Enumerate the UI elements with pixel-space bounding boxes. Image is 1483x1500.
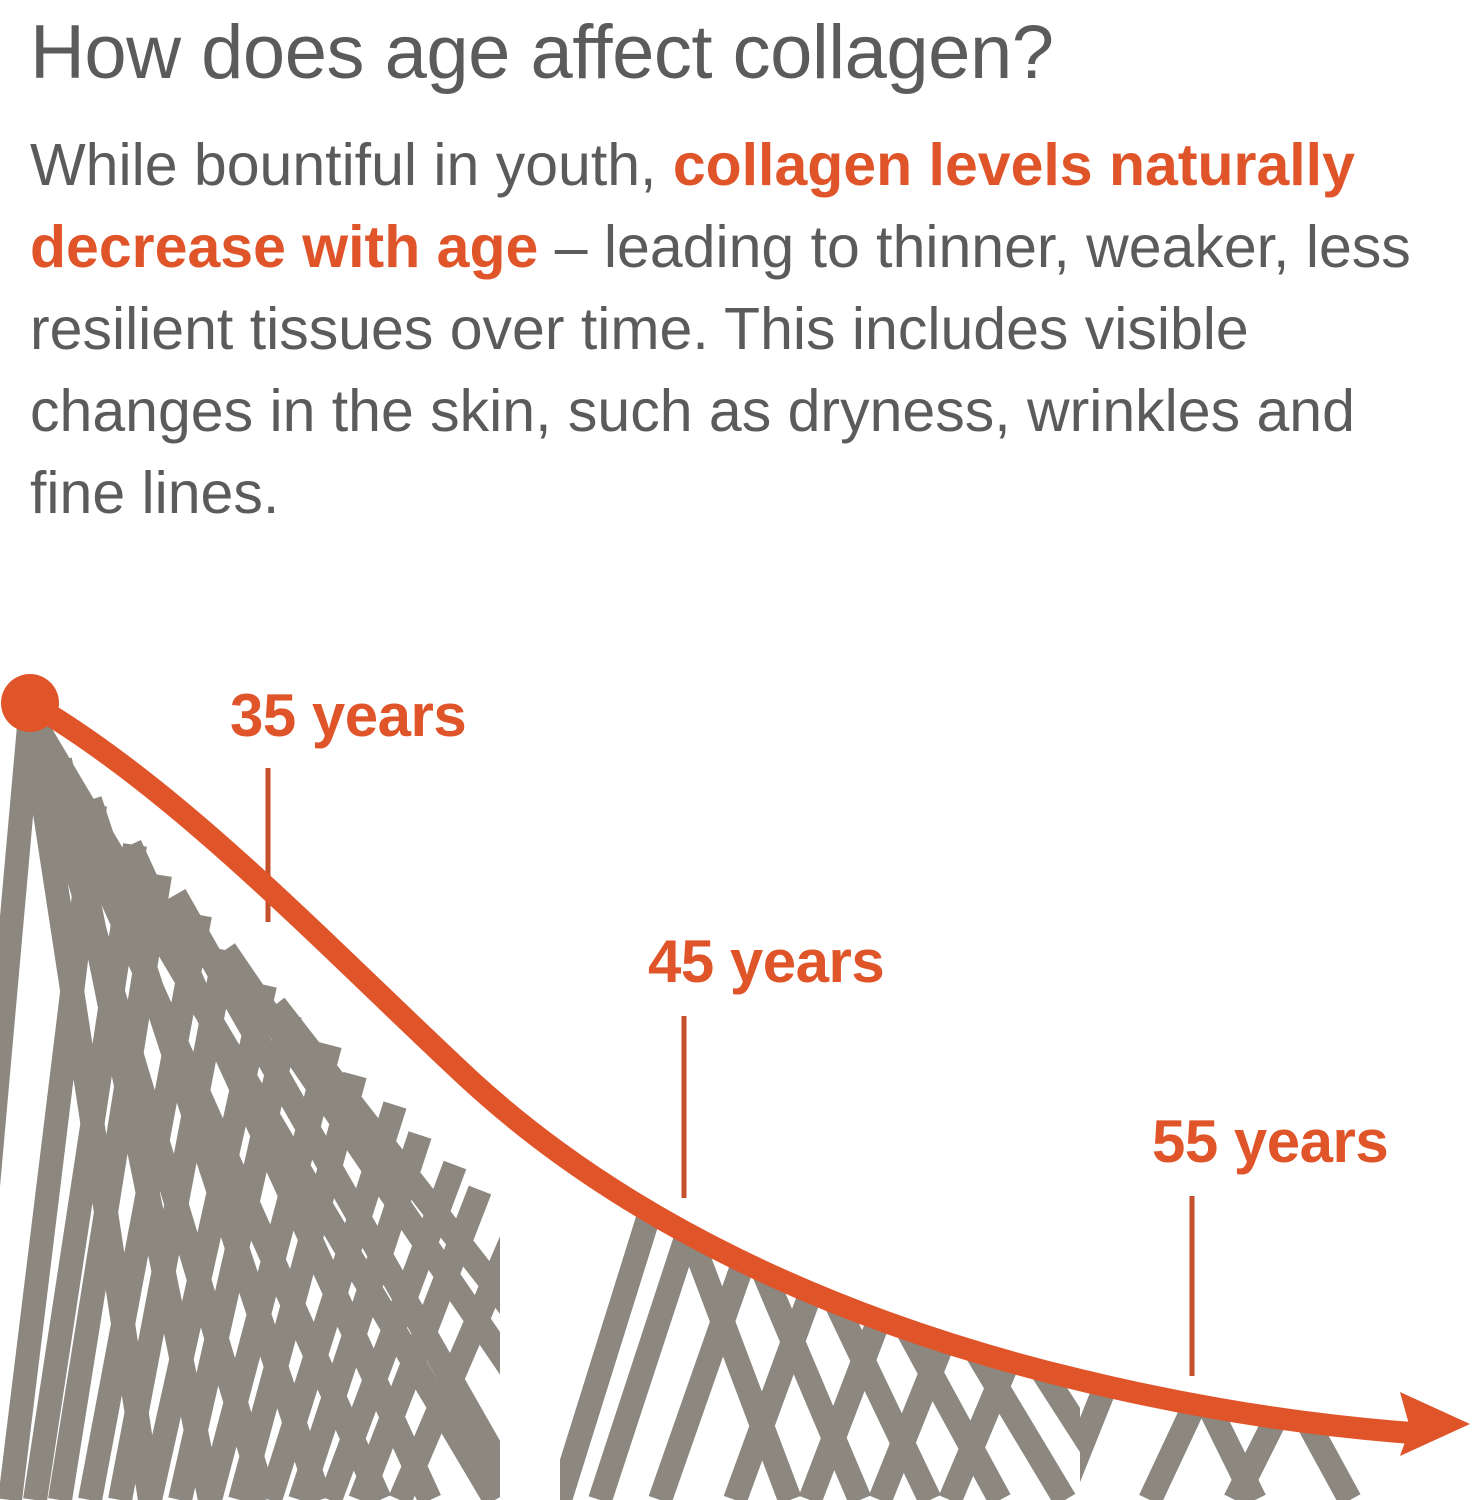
mesh-field-sparse-right (1060, 1350, 1350, 1500)
body-paragraph: While bountiful in youth, collagen level… (30, 100, 1430, 534)
annotation-label-45-years: 45 years (648, 932, 884, 992)
mesh-field-mid (560, 1180, 1125, 1500)
annotation-label-55-years: 55 years (1152, 1112, 1388, 1172)
arrow-right-icon (1400, 1392, 1470, 1456)
page-title: How does age affect collagen? (30, 0, 1430, 100)
start-dot-icon (1, 674, 59, 732)
text-block: How does age affect collagen? While boun… (30, 0, 1430, 534)
collagen-fibre-mesh (0, 715, 1350, 1500)
collagen-decline-curve (30, 703, 1425, 1434)
mesh-field-dense-left (0, 715, 660, 1500)
infographic-page: How does age affect collagen? While boun… (0, 0, 1483, 1500)
annotation-leader-lines (268, 768, 1192, 1376)
body-lead-text: While bountiful in youth, (30, 132, 673, 198)
annotation-label-35-years: 35 years (230, 686, 466, 746)
